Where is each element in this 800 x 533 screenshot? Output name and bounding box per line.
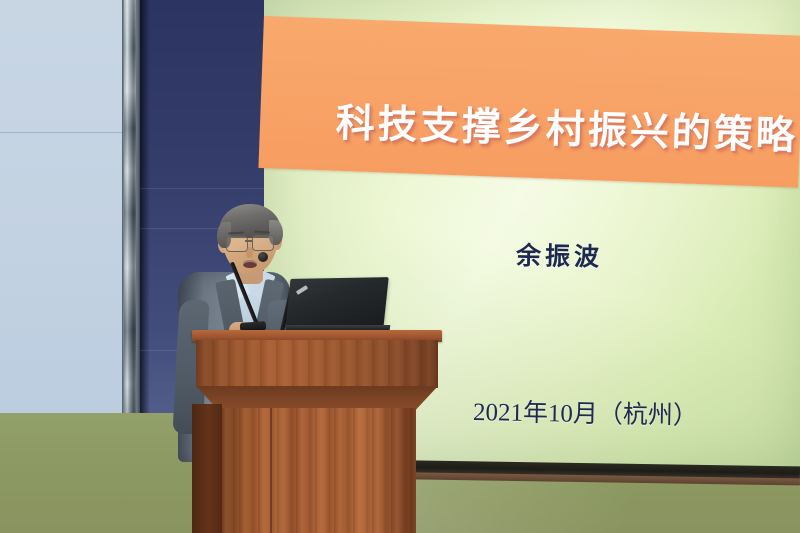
eyeglasses-lens-left [226,236,248,252]
wall-seam-line [0,132,128,133]
laptop-lid [285,277,388,329]
podium-corner-edge [270,408,272,533]
eyeglasses-lens-right [252,235,274,251]
microphone-capsule [258,252,268,262]
slide-author: 余振波 [516,236,604,274]
speaker-nose [246,247,253,258]
eyeglasses-bridge [245,240,253,242]
navy-panel-seam [140,188,264,189]
podium-side-face [192,404,222,533]
presentation-photo: 科技支撑乡村振兴的策略 余振波 2021年10月（杭州） [0,0,800,533]
speaker-mouth [243,260,257,268]
slide-date: 2021年10月（杭州） [473,392,699,432]
podium-body [220,408,416,533]
podium-head [196,340,438,388]
